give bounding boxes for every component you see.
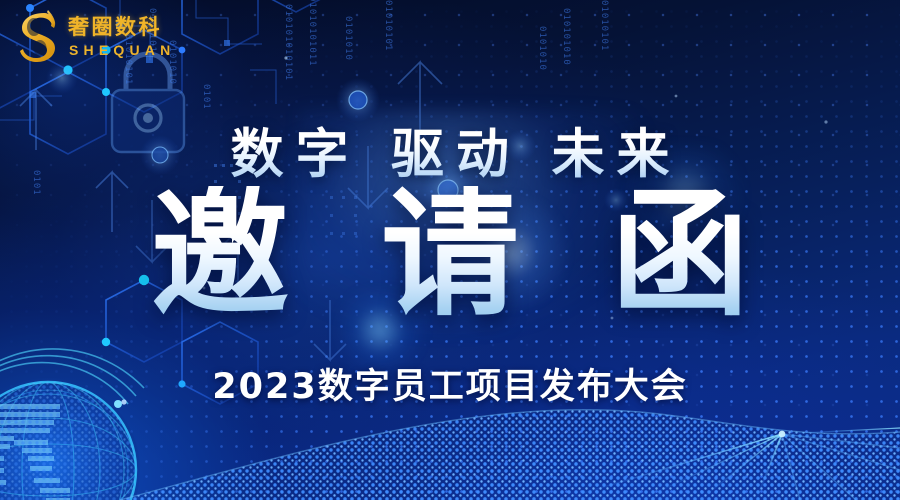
subtitle: 2023数字员工项目发布大会 xyxy=(0,358,900,409)
invitation-poster: 01010101 0101101 010101010101 0101010101… xyxy=(0,0,900,500)
poster-content: 数字 驱动 未来 邀 请 函 2023数字员工项目发布大会 xyxy=(0,0,900,500)
headline: 邀 请 函 xyxy=(0,186,900,324)
